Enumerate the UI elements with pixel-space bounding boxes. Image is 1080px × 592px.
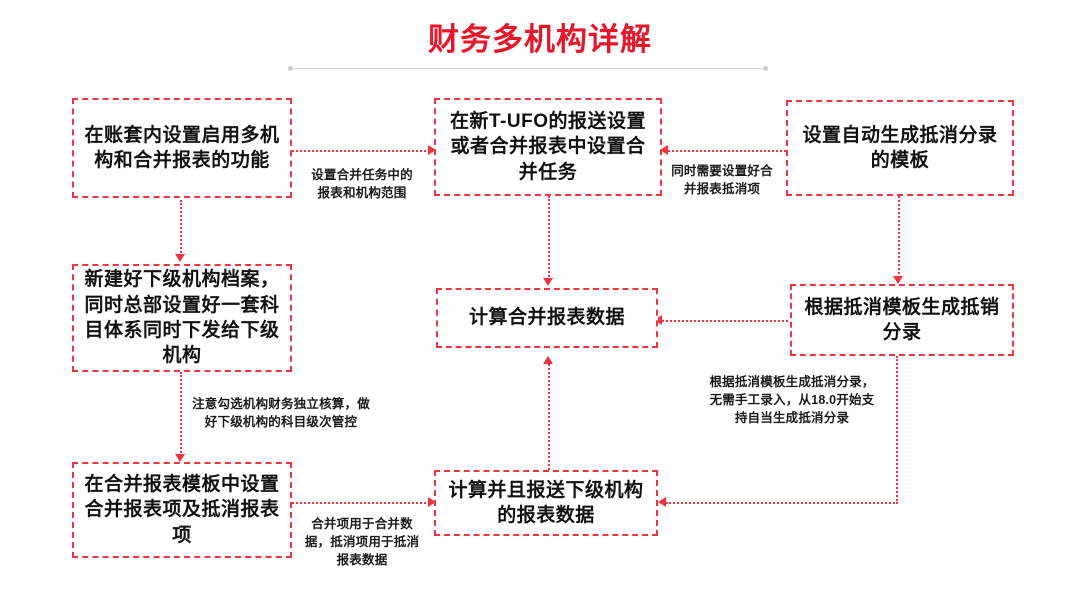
flowchart-canvas: 财务多机构详解 (0, 0, 1080, 592)
box-auto-offset-template-label: 设置自动生成抵消分录的模板 (794, 123, 1006, 174)
box-set-merge-items[interactable]: 在合并报表模板中设置合并报表项及抵消报表项 (72, 462, 292, 558)
note-merge-task-scope: 设置合并任务中的报表和机构范围 (306, 167, 418, 203)
box-calc-merged-report-data-label: 计算合并报表数据 (444, 305, 650, 330)
box-calc-report-sub-org-label: 计算并且报送下级机构的报表数据 (442, 478, 650, 529)
divider-dot-right (763, 66, 768, 71)
note-offset-items: 同时需要设置好合并报表抵消项 (668, 163, 776, 199)
note-independent-accounting: 注意勾选机构财务独立核算，做好下级机构的科目级次管控 (186, 396, 376, 432)
divider-dot-left (288, 66, 293, 71)
box-set-merge-task-label: 在新T-UFO的报送设置或者合并报表中设置合并任务 (442, 109, 654, 185)
box-calc-report-sub-org[interactable]: 计算并且报送下级机构的报表数据 (434, 470, 658, 536)
box-set-merge-items-label: 在合并报表模板中设置合并报表项及抵消报表项 (80, 472, 284, 548)
box-create-sub-org-archive-label: 新建好下级机构档案，同时总部设置好一套科目体系同时下发给下级机构 (80, 267, 284, 368)
note-auto-offset-18: 根据抵消模板生成抵消分录，无需手工录入，从18.0开始支持自当生成抵消分录 (706, 374, 878, 427)
divider-line (288, 68, 768, 69)
box-generate-offset-entries-label: 根据抵消模板生成抵销分录 (798, 295, 1006, 346)
box-enable-multi-org[interactable]: 在账套内设置启用多机构和合并报表的功能 (72, 98, 292, 198)
box-auto-offset-template[interactable]: 设置自动生成抵消分录的模板 (786, 100, 1014, 196)
page-title: 财务多机构详解 (0, 14, 1080, 59)
note-merge-vs-offset-items: 合并项用于合并数据，抵消项用于抵消报表数据 (302, 516, 422, 569)
box-create-sub-org-archive[interactable]: 新建好下级机构档案，同时总部设置好一套科目体系同时下发给下级机构 (72, 264, 292, 372)
box-generate-offset-entries[interactable]: 根据抵消模板生成抵销分录 (790, 284, 1014, 356)
box-calc-merged-report-data[interactable]: 计算合并报表数据 (436, 288, 658, 348)
box-enable-multi-org-label: 在账套内设置启用多机构和合并报表的功能 (80, 123, 284, 174)
title-divider (288, 66, 768, 72)
box-set-merge-task[interactable]: 在新T-UFO的报送设置或者合并报表中设置合并任务 (434, 98, 662, 196)
